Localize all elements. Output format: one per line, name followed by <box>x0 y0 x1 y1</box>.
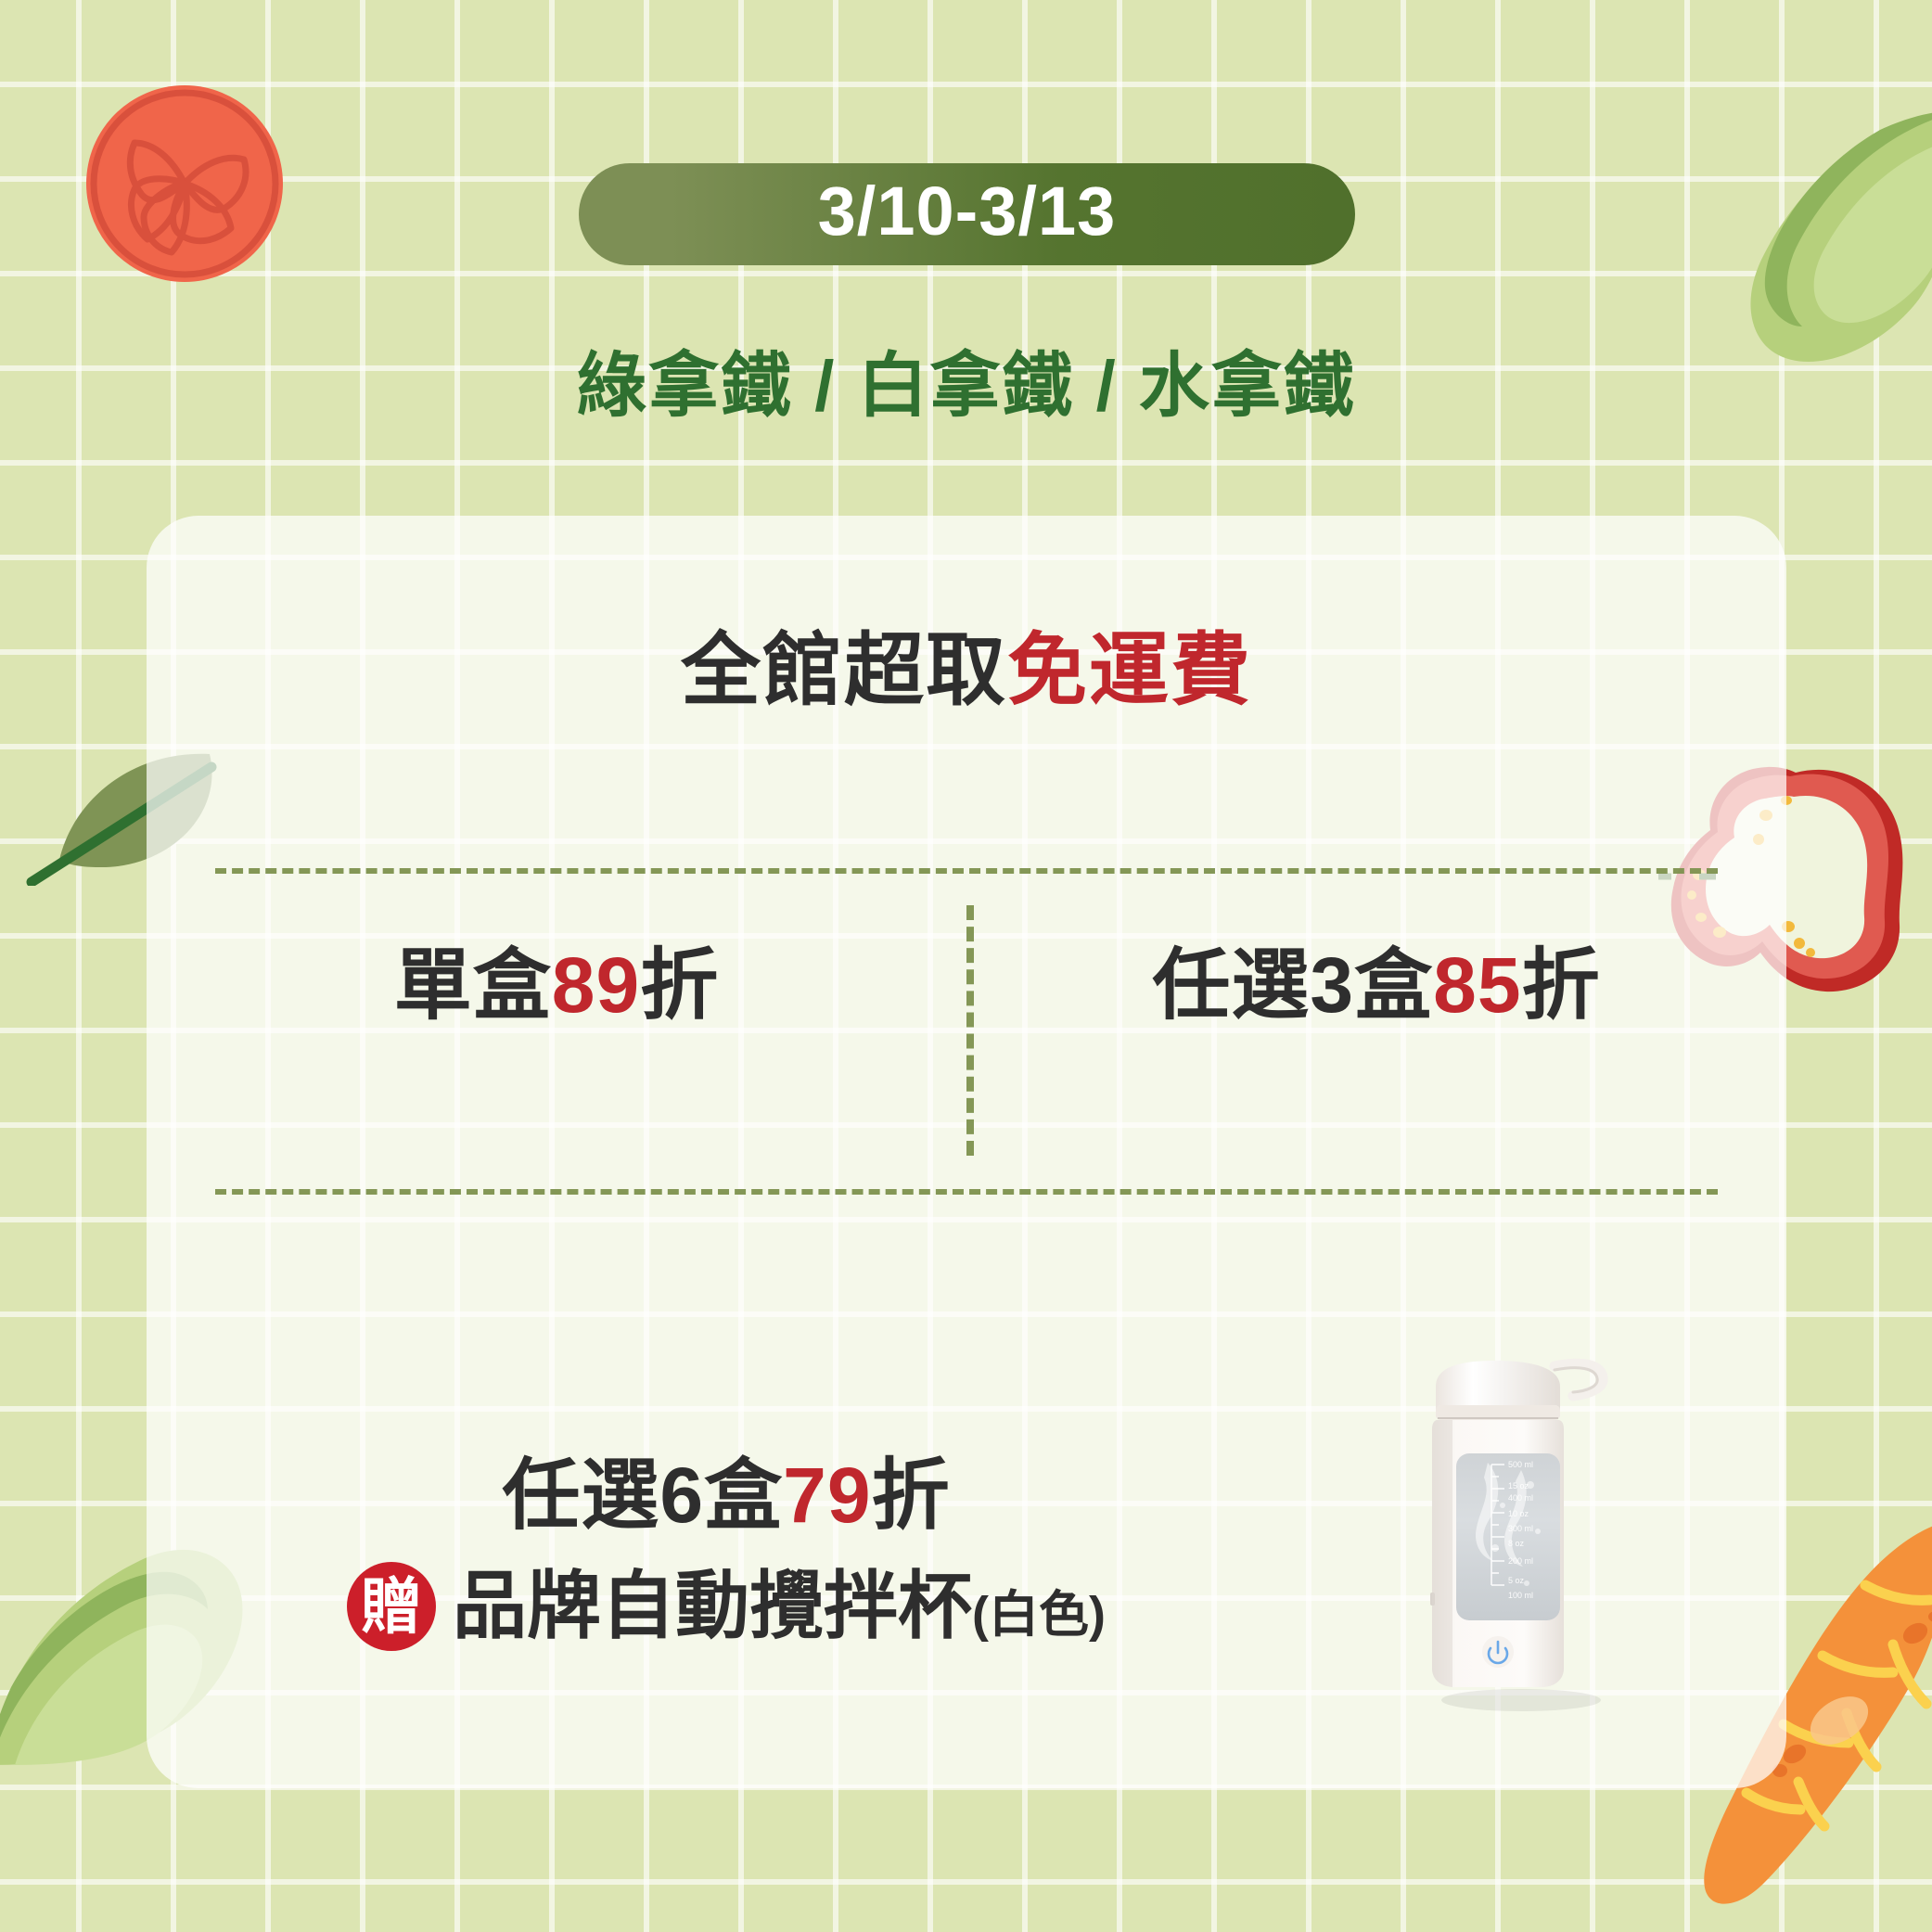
shaker-cup-product-image: 500 ml 15 oz . 400 ml 10 oz 300 ml 8 oz … <box>1391 1350 1632 1721</box>
tier-6-label-after: 折 <box>872 1452 951 1539</box>
tier-6-discount: 79 <box>783 1452 871 1539</box>
date-range-pill: 3/10-3/13 <box>579 163 1355 265</box>
svg-text:200 ml: 200 ml <box>1508 1556 1533 1566</box>
date-range-label: 3/10-3/13 <box>818 177 1117 246</box>
svg-text:5 oz: 5 oz <box>1508 1576 1525 1585</box>
tier-six-box: 任選6盒79折 贈 品牌自動攪拌杯(白色) <box>147 1452 1306 1651</box>
tier-6-line: 任選6盒79折 <box>147 1452 1306 1538</box>
gift-text: 品牌自動攪拌杯(白色) <box>453 1569 1106 1644</box>
tier-row: 單盒89折 任選3盒85折 <box>147 942 1786 1028</box>
tier-6-label-before: 任選6盒 <box>502 1452 783 1539</box>
tier-2-label-before: 任選3盒 <box>1152 941 1433 1029</box>
tier-1-label-before: 單盒 <box>394 941 552 1029</box>
gift-badge: 贈 <box>347 1562 436 1651</box>
gift-line: 贈 品牌自動攪拌杯(白色) <box>147 1562 1306 1651</box>
tier-2-discount: 85 <box>1433 941 1521 1029</box>
svg-text:10 oz: 10 oz <box>1508 1509 1529 1518</box>
svg-text:500 ml: 500 ml <box>1508 1460 1533 1469</box>
headline-highlight: 免運費 <box>1007 626 1252 715</box>
gift-product-name: 品牌自動攪拌杯 <box>453 1565 972 1647</box>
svg-text:100 ml: 100 ml <box>1508 1591 1533 1600</box>
tier-1-label-after: 折 <box>640 941 719 1029</box>
headline-plain: 全館超取 <box>681 626 1007 715</box>
svg-text:15 oz: 15 oz <box>1508 1481 1529 1491</box>
tier-single-box: 單盒89折 <box>147 942 966 1028</box>
svg-text:8 oz: 8 oz <box>1508 1539 1525 1548</box>
tier-2-label-after: 折 <box>1522 941 1601 1029</box>
divider-bottom <box>215 1189 1718 1195</box>
tier-1-discount: 89 <box>552 941 640 1029</box>
svg-text:400 ml: 400 ml <box>1508 1493 1533 1503</box>
gift-variant: (白色) <box>972 1587 1106 1643</box>
svg-text:300 ml: 300 ml <box>1508 1524 1533 1533</box>
product-subtitle: 綠拿鐵 / 白拿鐵 / 水拿鐵 <box>0 348 1932 426</box>
tier-three-box: 任選3盒85折 <box>966 942 1786 1028</box>
headline: 全館超取免運費 <box>147 627 1786 715</box>
divider-top <box>215 868 1718 874</box>
